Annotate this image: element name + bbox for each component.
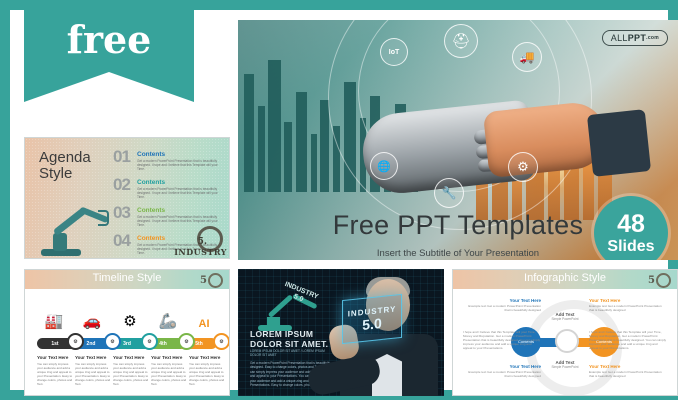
slide-industry-hologram[interactable]: INDUSTRY 5.0 LOREM IPSUM DOLOR SIT AMET.…	[238, 269, 444, 396]
agenda-title-line2: Style	[39, 166, 91, 182]
delivery-truck-icon: 🚚	[512, 42, 542, 72]
timeline-caption: Your Text Here You can simply impress yo…	[75, 355, 111, 386]
info-block-top-right: Your Text Here Example text Get a modern…	[589, 298, 667, 312]
hologram-panel: INDUSTRY 5.0	[342, 294, 402, 344]
agenda-item-heading: Contents	[137, 151, 165, 158]
center-top-label: Add Text Simple PowerPoint	[539, 312, 591, 321]
add-text-body: Simple PowerPoint	[539, 317, 591, 321]
mid-heading: LOREM IPSUM DOLOR SIT AMET.	[250, 329, 328, 349]
block-body: Example text Get a modern PowerPoint Pre…	[463, 370, 541, 378]
agenda-item-number: 04	[113, 231, 130, 251]
agenda-item[interactable]: 02 Contents Get a modern PowerPoint Pres…	[113, 178, 225, 204]
header-number: 5	[648, 275, 655, 286]
timeline-caption: Your Text Here You can simply impress yo…	[37, 355, 73, 386]
agenda-item-heading: Contents	[137, 235, 165, 242]
agenda-item[interactable]: 01 Contents Get a modern PowerPoint Pres…	[113, 150, 225, 176]
slide-infographic-style[interactable]: Infographic Style 5 Contents Contents Ad…	[452, 269, 678, 396]
caption-body: You can simply impress your audience and…	[113, 362, 149, 386]
factory-gear-icon: ⚙	[508, 152, 538, 182]
agenda-title-line1: Agenda	[39, 150, 91, 166]
caption-heading: Your Text Here	[151, 355, 187, 360]
info-block-bottom-right: Your Text Here Example text Get a modern…	[589, 364, 667, 378]
block-heading: Your Text Here	[589, 298, 667, 303]
worker-helmet-icon: ⛑	[444, 24, 478, 58]
agenda-item-number: 02	[113, 175, 130, 195]
caption-body: You can simply impress your audience and…	[189, 362, 225, 386]
conveyor-icon: ⚙	[115, 300, 145, 330]
caption-body: You can simply impress your audience and…	[151, 362, 187, 386]
ai-arm-icon: AI	[189, 300, 219, 330]
factory-icon: 🏭	[39, 300, 69, 330]
add-text-body: Simple PowerPoint	[539, 365, 591, 369]
caption-heading: Your Text Here	[75, 355, 111, 360]
header-number: 5	[200, 275, 207, 286]
business-sleeve	[587, 109, 651, 177]
robot-arm-icon	[35, 188, 113, 256]
mid-heading-line1: LOREM IPSUM	[250, 329, 328, 339]
agenda-item-heading: Contents	[137, 207, 165, 214]
block-heading: Your Text Here	[463, 298, 541, 303]
timeline-marker-icon: ⚙	[178, 333, 195, 350]
block-body: Example text Get a modern PowerPoint Pre…	[589, 370, 667, 378]
caption-heading: Your Text Here	[189, 355, 225, 360]
agenda-item-number: 03	[113, 203, 130, 223]
gear-icon	[656, 273, 671, 288]
caption-body: You can simply impress your audience and…	[37, 362, 73, 386]
preview-inner: free Agenda Style 01 Contents Get a mode…	[10, 10, 668, 390]
slide-agenda-style[interactable]: Agenda Style 01 Contents Get a modern Po…	[24, 137, 230, 259]
slide-timeline-style[interactable]: Timeline Style 5 🏭 🚗 ⚙ 🦾 AI 1st 2nd 3rd …	[24, 269, 230, 396]
slide-hero-title[interactable]: IoT ⛑ 🚚 🌐 🔧 ⚙ ALLPPT.com Free PPT Templa…	[238, 20, 678, 260]
caption-heading: Your Text Here	[113, 355, 149, 360]
agenda-item-body: Get a modern PowerPoint Presentation tha…	[137, 187, 223, 200]
caption-heading: Your Text Here	[37, 355, 73, 360]
robot-arm-icon: 🦾	[153, 300, 183, 330]
timeline-header-badge: 5	[200, 273, 223, 288]
center-node	[555, 329, 579, 353]
free-ribbon: free	[24, 10, 194, 102]
mid-heading-line2: DOLOR SIT AMET.	[250, 339, 328, 349]
info-block-top-left: Your Text Here Example text Get a modern…	[463, 298, 541, 312]
badge-label: Slides	[607, 239, 654, 255]
car-icon: 🚗	[77, 300, 107, 330]
timeline-marker-icon: ⚙	[141, 333, 158, 350]
timeline-body: 🏭 🚗 ⚙ 🦾 AI 1st 2nd 3rd 4th 5th ⚙ ⚙ ⚙ ⚙ ⚙…	[29, 292, 225, 391]
agenda-industry-label: INDUSTRY	[174, 247, 227, 257]
allppt-logo[interactable]: ALLPPT.com	[602, 30, 668, 46]
block-heading: Your Text Here	[463, 364, 541, 369]
wrench-icon: 🔧	[434, 178, 464, 208]
block-body: Example text Get a modern PowerPoint Pre…	[463, 304, 541, 312]
info-block-bottom-left: Your Text Here Example text Get a modern…	[463, 364, 541, 378]
gear-icon	[208, 273, 223, 288]
preview-page: free Agenda Style 01 Contents Get a mode…	[0, 0, 678, 400]
timeline-caption: Your Text Here You can simply impress yo…	[113, 355, 149, 386]
info-block-mid-left: I hope and I believe that this Template …	[463, 330, 541, 350]
ribbon-label: free	[24, 10, 194, 72]
info-block-mid-right: I hope and I believe that this Template …	[589, 330, 667, 350]
timeline-caption: Your Text Here You can simply impress yo…	[151, 355, 187, 386]
iot-icon: IoT	[380, 38, 408, 66]
timeline-caption: Your Text Here You can simply impress yo…	[189, 355, 225, 386]
timeline-marker-icon: ⚙	[67, 333, 84, 350]
agenda-title: Agenda Style	[39, 150, 91, 182]
block-heading: Your Text Here	[589, 364, 667, 369]
timeline-marker-icon: ⚙	[104, 333, 121, 350]
logo-suffix: .com	[646, 35, 659, 41]
globe-icon: 🌐	[370, 152, 398, 180]
mid-subheading: LOREM IPSUM DOLOR SIT AMET / LOREM IPSUM…	[250, 349, 328, 358]
logo-ppt: PPT	[628, 33, 646, 43]
caption-body: You can simply impress your audience and…	[75, 362, 111, 386]
timeline-header-title: Timeline Style	[25, 272, 229, 284]
block-body: I hope and I believe that this Template …	[589, 330, 667, 350]
agenda-item-number: 01	[113, 147, 130, 167]
ribbon-point-icon	[24, 72, 194, 102]
slides-count-badge: 48 Slides	[594, 196, 668, 260]
agenda-industry-number: 5.	[198, 237, 207, 247]
block-body: I hope and I believe that this Template …	[463, 330, 541, 350]
info-header-title: Infographic Style	[453, 272, 677, 284]
badge-number: 48	[617, 212, 645, 237]
info-body: Contents Contents Add Text Simple PowerP…	[457, 292, 673, 391]
center-bottom-label: Add Text Simple PowerPoint	[539, 360, 591, 369]
info-header-badge: 5	[648, 273, 671, 288]
holo-line2: 5.0	[362, 314, 381, 332]
block-body: Example text Get a modern PowerPoint Pre…	[589, 304, 667, 312]
logo-all: ALL	[611, 33, 628, 43]
timeline-marker-icon: ⚙	[213, 333, 230, 350]
agenda-item-body: Get a modern PowerPoint Presentation tha…	[137, 159, 223, 172]
agenda-item-heading: Contents	[137, 179, 165, 186]
